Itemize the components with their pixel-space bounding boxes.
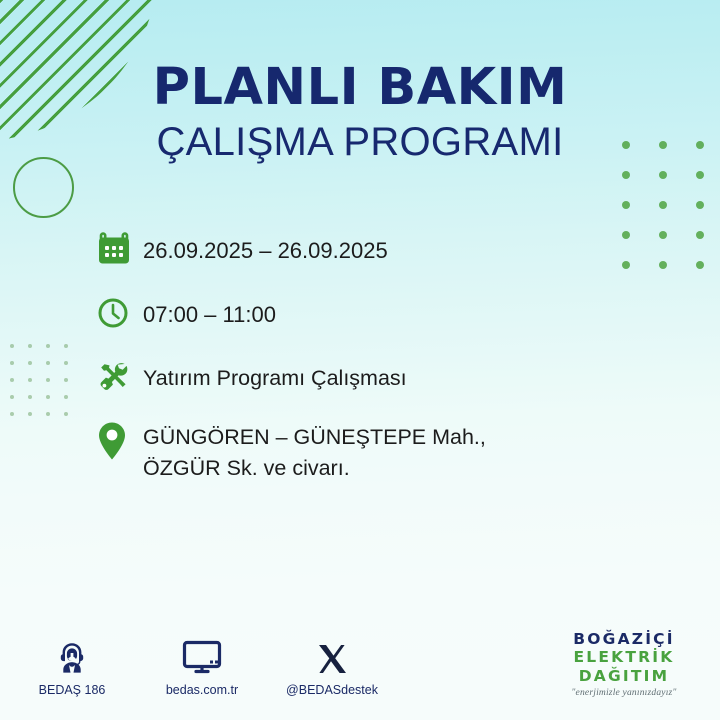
monitor-icon bbox=[182, 636, 222, 676]
clock-icon bbox=[97, 290, 143, 336]
info-row-location: GÜNGÖREN – GÜNEŞTEPE Mah., ÖZGÜR Sk. ve … bbox=[97, 418, 657, 483]
dot-grid-left-decoration bbox=[10, 344, 82, 429]
location-value: GÜNGÖREN – GÜNEŞTEPE Mah., ÖZGÜR Sk. ve … bbox=[143, 418, 486, 483]
info-row-date: 26.09.2025 – 26.09.2025 bbox=[97, 226, 657, 272]
circle-outline-decoration bbox=[13, 157, 74, 218]
contact-item-x[interactable]: @BEDASdestek bbox=[286, 636, 378, 697]
contact-list: BEDAŞ 186 bedas.com.tr @BEDASdestek bbox=[26, 636, 378, 697]
title-subtitle: ÇALIŞMA PROGRAMI bbox=[0, 121, 720, 163]
contact-label-phone: BEDAŞ 186 bbox=[39, 683, 106, 697]
location-pin-icon bbox=[97, 418, 143, 464]
contact-item-website[interactable]: bedas.com.tr bbox=[156, 636, 248, 697]
logo-line-2: ELEKTRİK bbox=[544, 648, 704, 666]
work-type-value: Yatırım Programı Çalışması bbox=[143, 354, 407, 394]
info-row-time: 07:00 – 11:00 bbox=[97, 290, 657, 336]
x-twitter-icon bbox=[315, 636, 349, 676]
tools-icon bbox=[97, 354, 143, 400]
planned-maintenance-poster: PLANLI BAKIM ÇALIŞMA PROGRAMI bbox=[0, 0, 720, 720]
logo-line-1: BOĞAZİÇİ bbox=[544, 630, 704, 648]
logo-line-3: DAĞITIM bbox=[544, 667, 704, 685]
support-agent-icon bbox=[54, 636, 90, 676]
contact-label-website: bedas.com.tr bbox=[166, 683, 238, 697]
contact-label-x: @BEDASdestek bbox=[286, 683, 378, 697]
brand-logo: BOĞAZİÇİ ELEKTRİK DAĞITIM "enerjimizle y… bbox=[544, 630, 704, 698]
calendar-icon bbox=[97, 226, 143, 272]
logo-tagline: "enerjimizle yanınızdayız" bbox=[544, 688, 704, 698]
title-main: PLANLI BAKIM bbox=[0, 62, 720, 113]
page-title: PLANLI BAKIM ÇALIŞMA PROGRAMI bbox=[0, 62, 720, 163]
info-row-work-type: Yatırım Programı Çalışması bbox=[97, 354, 657, 400]
info-list: 26.09.2025 – 26.09.2025 07:00 – 11:00 bbox=[97, 226, 657, 483]
date-range-value: 26.09.2025 – 26.09.2025 bbox=[143, 226, 388, 266]
contact-item-phone[interactable]: BEDAŞ 186 bbox=[26, 636, 118, 697]
time-range-value: 07:00 – 11:00 bbox=[143, 290, 276, 330]
